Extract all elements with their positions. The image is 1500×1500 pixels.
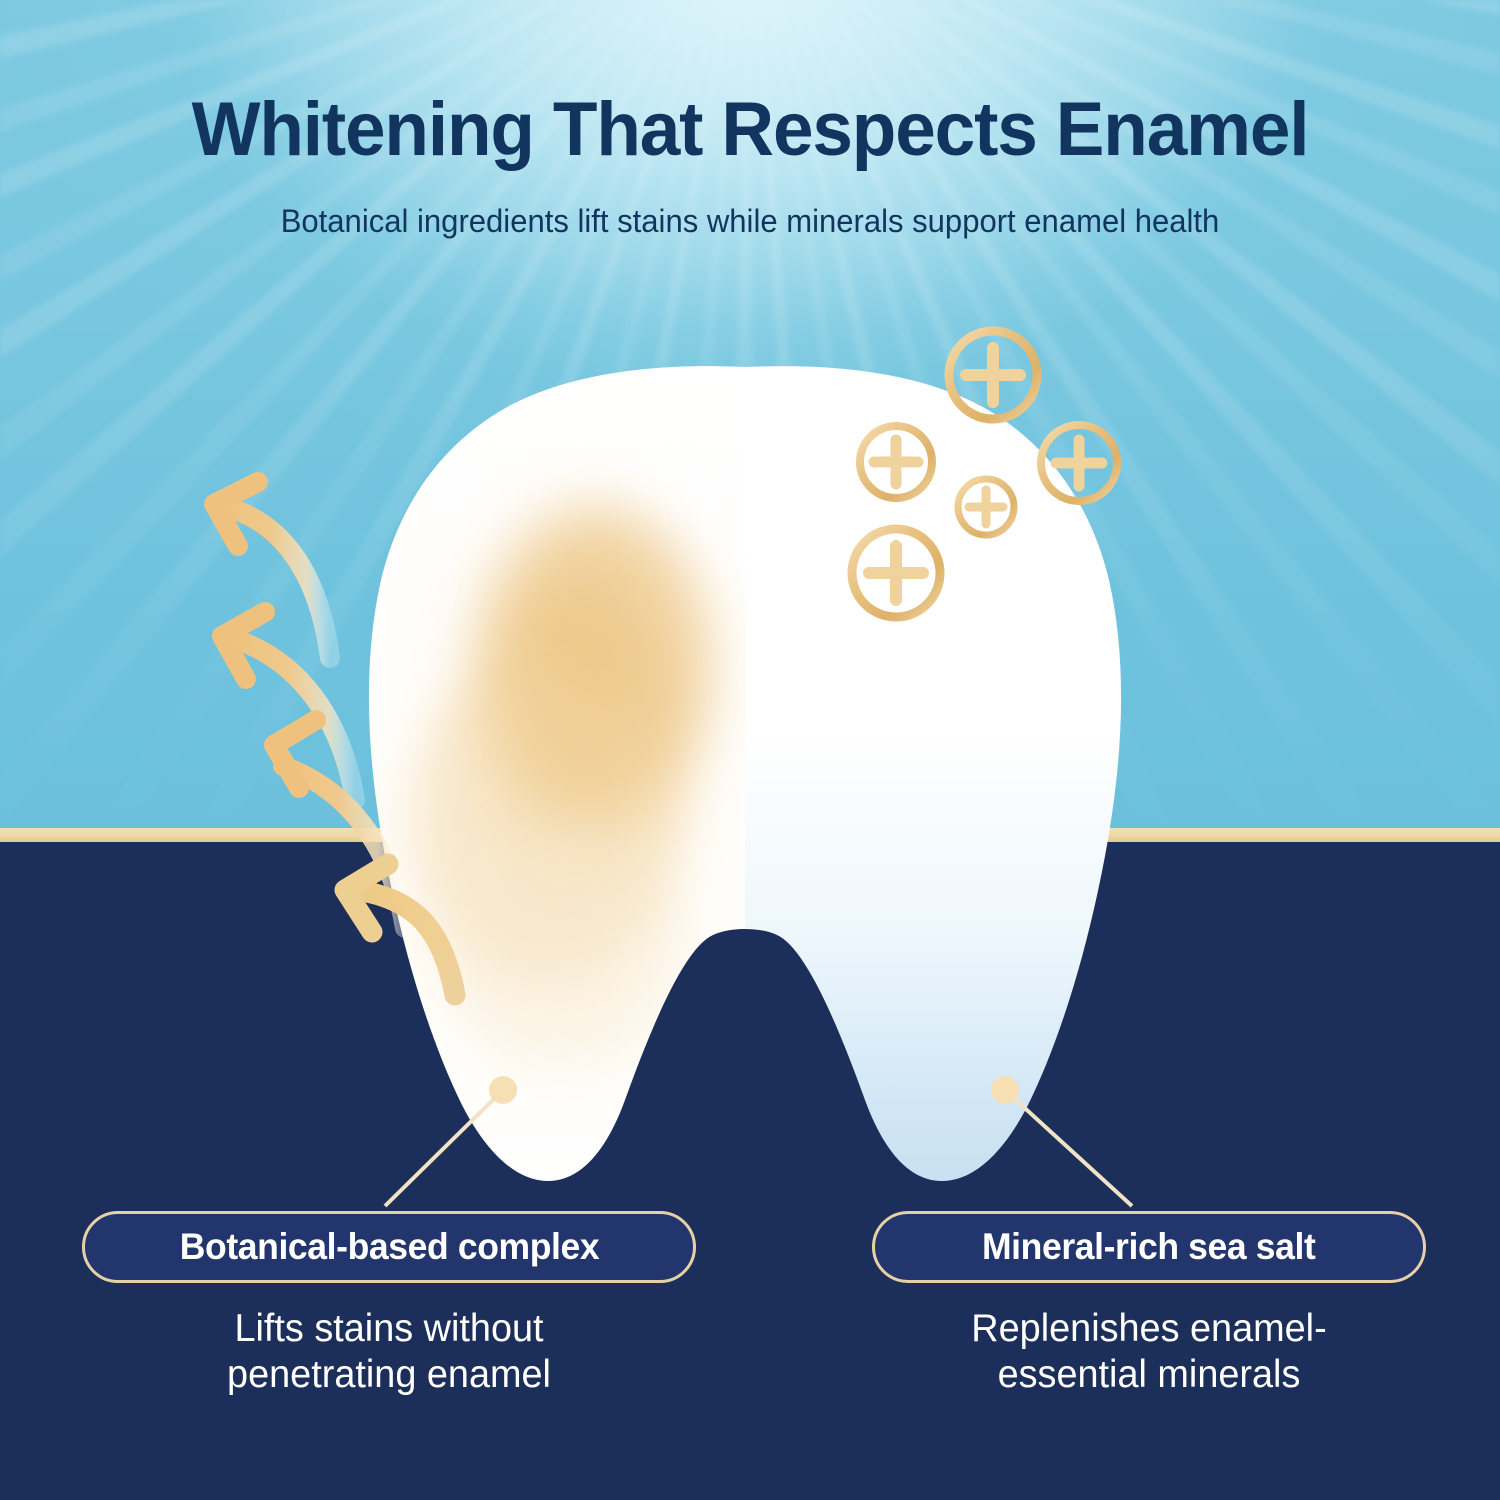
plus-circle-icon-1	[949, 331, 1037, 419]
connector-dot-right	[991, 1076, 1019, 1104]
plus-circle-icon-2	[860, 426, 932, 498]
callout-pill-label-botanical: Botanical-based complex	[179, 1226, 599, 1268]
page-title: Whitening That Respects Enamel	[30, 86, 1470, 173]
page-subtitle: Botanical ingredients lift stains while …	[23, 203, 1478, 240]
callout-caption-line-1: Replenishes enamel-	[971, 1307, 1326, 1350]
plus-circle-icon-5	[852, 529, 940, 617]
callout-caption-line-1: Lifts stains without	[234, 1307, 543, 1350]
connector-dot-left	[489, 1076, 517, 1104]
callout-caption-sea-salt: Replenishes enamel- essential minerals	[880, 1306, 1417, 1398]
callout-caption-botanical: Lifts stains without penetrating enamel	[91, 1306, 687, 1398]
tooth-left-half-stained	[330, 340, 760, 1210]
callout-caption-line-2: penetrating enamel	[227, 1353, 551, 1396]
callout-pill-label-sea-salt: Mineral-rich sea salt	[982, 1226, 1315, 1268]
infographic-canvas: Whitening That Respects Enamel Botanical…	[0, 0, 1500, 1500]
callout-caption-line-2: essential minerals	[998, 1353, 1301, 1396]
plus-circle-icon-4	[958, 479, 1014, 535]
callout-pill-botanical[interactable]: Botanical-based complex	[82, 1211, 696, 1283]
connector-right	[991, 1076, 1132, 1206]
plus-circle-icon-3	[1041, 425, 1117, 501]
callout-pill-sea-salt[interactable]: Mineral-rich sea salt	[872, 1211, 1426, 1283]
